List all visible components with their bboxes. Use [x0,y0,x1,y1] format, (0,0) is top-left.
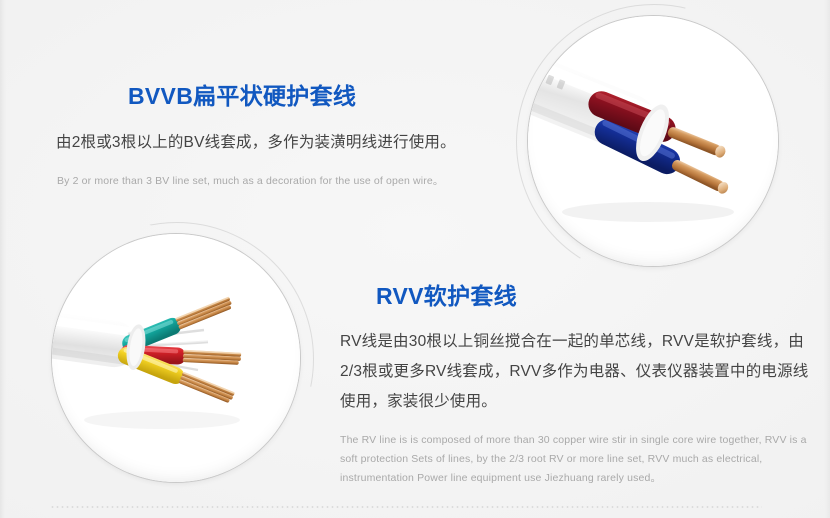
product-description-page: BVVB扁平状硬护套线 由2根或3根以上的BV线套成，多作为装潢明线进行使用。 … [0,0,830,518]
bvvb-text-block: BVVB扁平状硬护套线 由2根或3根以上的BV线套成，多作为装潢明线进行使用。 … [52,82,522,191]
rvv-cable-illustration [52,234,300,482]
rvv-text-block: RVV软护套线 RV线是由30根以上铜丝搅合在一起的单芯线，RVV是软护套线，由… [338,282,818,488]
bvvb-heading: BVVB扁平状硬护套线 [52,82,522,111]
rvv-chinese-description: RV线是由30根以上铜丝搅合在一起的单芯线，RVV是软护套线，由2/3根或更多R… [338,327,818,417]
bvvb-chinese-description: 由2根或3根以上的BV线套成，多作为装潢明线进行使用。 [52,128,522,158]
rvv-heading: RVV软护套线 [338,282,818,311]
bottom-dotted-divider [50,506,762,508]
rvv-english-description: The RV line is is composed of more than … [338,431,816,488]
left-edge-shading [0,0,6,518]
right-edge-shading [824,0,830,518]
bvvb-english-description: By 2 or more than 3 BV line set, much as… [52,172,522,191]
bvvb-cable-illustration [528,16,778,266]
rvv-cable-photo [52,234,300,482]
bvvb-cable-photo [528,16,778,266]
